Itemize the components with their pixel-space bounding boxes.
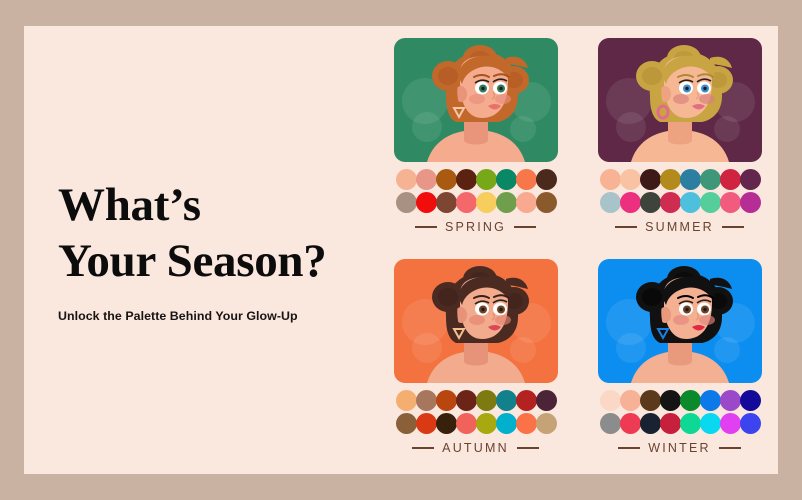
swatch-row-2	[600, 192, 760, 213]
color-swatch[interactable]	[680, 169, 701, 190]
swatch-row-2	[600, 413, 760, 434]
color-swatch[interactable]	[396, 390, 417, 411]
color-swatch[interactable]	[436, 390, 457, 411]
color-swatch[interactable]	[536, 192, 557, 213]
season-label: SUMMER	[645, 220, 714, 234]
season-label-wrap: SPRING	[396, 220, 556, 234]
swatch-row-1	[600, 169, 760, 190]
color-swatch[interactable]	[456, 192, 477, 213]
swatch-grid	[600, 390, 760, 434]
color-swatch[interactable]	[436, 192, 457, 213]
color-swatch[interactable]	[396, 192, 417, 213]
color-swatch[interactable]	[640, 169, 661, 190]
rule-right	[514, 226, 536, 228]
headline-block: What’s Your Season? Unlock the Palette B…	[24, 26, 379, 474]
color-swatch[interactable]	[476, 169, 497, 190]
rule-left	[618, 447, 640, 449]
season-label: AUTUMN	[442, 441, 509, 455]
portrait-illustration	[394, 38, 558, 162]
color-swatch[interactable]	[640, 192, 661, 213]
color-swatch[interactable]	[740, 390, 761, 411]
color-swatch[interactable]	[436, 169, 457, 190]
season-portrait-winter	[598, 259, 762, 383]
color-swatch[interactable]	[720, 169, 741, 190]
color-swatch[interactable]	[700, 413, 721, 434]
color-swatch[interactable]	[456, 169, 477, 190]
color-swatch[interactable]	[456, 390, 477, 411]
swatch-grid	[396, 390, 556, 434]
rule-right	[722, 226, 744, 228]
color-swatch[interactable]	[416, 169, 437, 190]
color-swatch[interactable]	[476, 413, 497, 434]
color-swatch[interactable]	[436, 413, 457, 434]
rule-left	[412, 447, 434, 449]
color-swatch[interactable]	[536, 413, 557, 434]
season-label: SPRING	[445, 220, 506, 234]
color-swatch[interactable]	[456, 413, 477, 434]
season-label-wrap: SUMMER	[600, 220, 760, 234]
color-swatch[interactable]	[700, 192, 721, 213]
color-swatch[interactable]	[396, 413, 417, 434]
color-swatch[interactable]	[720, 413, 741, 434]
poster: What’s Your Season? Unlock the Palette B…	[0, 0, 802, 500]
swatch-row-1	[396, 169, 556, 190]
color-swatch[interactable]	[516, 192, 537, 213]
page-subtitle: Unlock the Palette Behind Your Glow-Up	[58, 309, 379, 323]
color-swatch[interactable]	[496, 169, 517, 190]
color-swatch[interactable]	[680, 413, 701, 434]
color-swatch[interactable]	[740, 192, 761, 213]
color-swatch[interactable]	[660, 413, 681, 434]
season-label-wrap: AUTUMN	[396, 441, 556, 455]
color-swatch[interactable]	[416, 192, 437, 213]
color-swatch[interactable]	[516, 169, 537, 190]
season-portrait-summer	[598, 38, 762, 162]
color-swatch[interactable]	[516, 390, 537, 411]
season-card-winter[interactable]: WINTER	[598, 259, 762, 468]
color-swatch[interactable]	[700, 390, 721, 411]
season-card-spring[interactable]: SPRING	[394, 38, 558, 247]
color-swatch[interactable]	[536, 169, 557, 190]
poster-panel: What’s Your Season? Unlock the Palette B…	[24, 26, 778, 474]
color-swatch[interactable]	[640, 413, 661, 434]
color-swatch[interactable]	[660, 169, 681, 190]
color-swatch[interactable]	[660, 192, 681, 213]
color-swatch[interactable]	[720, 192, 741, 213]
color-swatch[interactable]	[396, 169, 417, 190]
season-card-grid: SPRING	[379, 26, 778, 474]
color-swatch[interactable]	[600, 413, 621, 434]
portrait-illustration	[598, 38, 762, 162]
color-swatch[interactable]	[620, 413, 641, 434]
swatch-grid	[396, 169, 556, 213]
season-card-autumn[interactable]: AUTUMN	[394, 259, 558, 468]
color-swatch[interactable]	[600, 390, 621, 411]
season-label-wrap: WINTER	[600, 441, 760, 455]
color-swatch[interactable]	[536, 390, 557, 411]
swatch-row-2	[396, 192, 556, 213]
page-title-line-1: What’s	[58, 177, 379, 234]
color-swatch[interactable]	[680, 192, 701, 213]
color-swatch[interactable]	[476, 390, 497, 411]
season-label: WINTER	[648, 441, 711, 455]
season-card-summer[interactable]: SUMMER	[598, 38, 762, 247]
color-swatch[interactable]	[496, 413, 517, 434]
rule-left	[415, 226, 437, 228]
rule-right	[719, 447, 741, 449]
color-swatch[interactable]	[620, 390, 641, 411]
swatch-row-1	[600, 390, 760, 411]
swatch-row-2	[396, 413, 556, 434]
rule-right	[517, 447, 539, 449]
color-swatch[interactable]	[740, 169, 761, 190]
color-swatch[interactable]	[600, 169, 621, 190]
color-swatch[interactable]	[660, 390, 681, 411]
page-title-line-2: Your Season?	[58, 233, 379, 290]
color-swatch[interactable]	[740, 413, 761, 434]
color-swatch[interactable]	[620, 192, 641, 213]
color-swatch[interactable]	[600, 192, 621, 213]
color-swatch[interactable]	[640, 390, 661, 411]
color-swatch[interactable]	[496, 390, 517, 411]
color-swatch[interactable]	[416, 390, 437, 411]
color-swatch[interactable]	[720, 390, 741, 411]
season-portrait-spring	[394, 38, 558, 162]
color-swatch[interactable]	[680, 390, 701, 411]
rule-left	[615, 226, 637, 228]
color-swatch[interactable]	[416, 413, 437, 434]
color-swatch[interactable]	[516, 413, 537, 434]
season-portrait-autumn	[394, 259, 558, 383]
portrait-illustration	[598, 259, 762, 383]
color-swatch[interactable]	[496, 192, 517, 213]
color-swatch[interactable]	[476, 192, 497, 213]
portrait-illustration	[394, 259, 558, 383]
color-swatch[interactable]	[700, 169, 721, 190]
swatch-grid	[600, 169, 760, 213]
swatch-row-1	[396, 390, 556, 411]
color-swatch[interactable]	[620, 169, 641, 190]
